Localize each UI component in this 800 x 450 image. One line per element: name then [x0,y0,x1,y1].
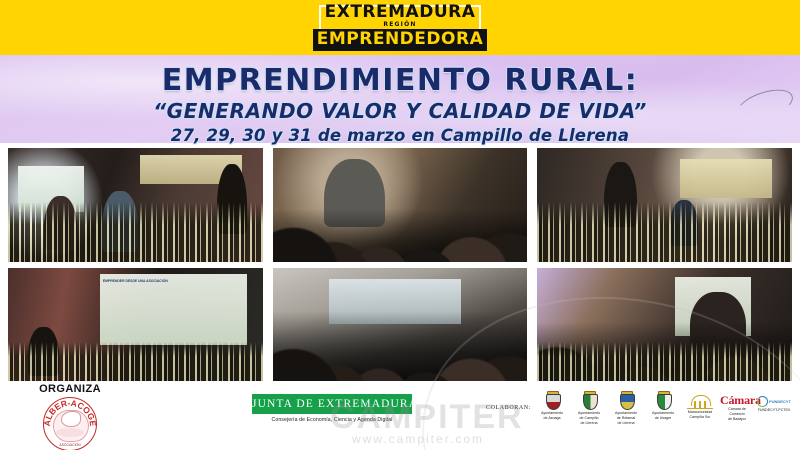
junta-extremadura-logo: JUNTA DE EXTREMADURA Consejería de Econo… [252,394,412,423]
collab-3-line2: de Usagre [646,416,680,421]
fundecyt-logo-icon: FUNDECYT [757,396,791,407]
photo-gallery: EMPRENDER DESDE UNA ASOCIACIÓN [8,148,792,381]
poster-root: EXTREMADURA REGIÓN EMPRENDEDORA EMPRENDI… [0,0,800,450]
logo-line-emprendedora: EMPRENDEDORA [313,29,487,50]
colaboran-label: COLABORAN: [486,405,531,411]
coat-of-arms-icon [619,391,634,410]
collaborator-logos: Ayuntamiento de Azuaga Ayuntamiento de C… [535,391,791,426]
extremadura-emprendedora-logo: EXTREMADURA REGIÓN EMPRENDEDORA [311,4,489,52]
collaborators-block: COLABORAN: Ayuntamiento de Azuaga [486,391,796,426]
page-title: EMPRENDIMIENTO RURAL: [0,55,800,98]
photo-4-projection-screen [100,274,248,344]
seal-subtext: ASOCIACIÓN [44,443,96,447]
photo-3-projection-screen [680,159,772,198]
coat-of-arms-icon [582,391,597,410]
junta-name: JUNTA DE EXTREMADURA [252,394,412,414]
photo-5-audience [273,311,528,381]
gallery-photo-2 [273,148,528,262]
collab-4-line2: Campiña Sur [683,415,717,420]
fundecyt-ring-icon [757,396,768,407]
collab-5-line2: de Badajoz [720,417,754,422]
collab-2-line3: de Llerena [609,421,643,426]
collaborator-usagre: Ayuntamiento de Usagre [646,391,680,421]
junta-department: Consejería de Economía, Ciencia y Agenda… [252,417,412,423]
logo-line-region: REGIÓN [383,22,416,28]
title-band: EMPRENDIMIENTO RURAL: “GENERANDO VALOR Y… [0,55,800,143]
photo-1-watermark-bars [8,202,263,261]
seal-dove-icon [61,411,81,427]
collaborator-camara-de-comercio: Cámara Cámara de Comercio de Badajoz [720,391,754,422]
camara-wordmark: Cámara [720,394,754,406]
collaborator-campillo-de-llerena: Ayuntamiento de Campillo de Llerena [572,391,606,426]
collaborator-retamal-de-llerena: Ayuntamiento de Retamal de Llerena [609,391,643,426]
gallery-photo-1 [8,148,263,262]
header-band: EXTREMADURA REGIÓN EMPRENDEDORA [0,0,800,55]
gallery-photo-5 [273,268,528,382]
collab-5-line1: Cámara de Comercio [720,407,754,417]
collab-1-line3: de Llerena [572,421,606,426]
photo-6-watermark-bars [537,342,792,381]
photo-4-slide-text: EMPRENDER DESDE UNA ASOCIACIÓN [8,277,263,285]
coat-of-arms-icon [545,391,560,410]
logo-line-extremadura: EXTREMADURA [325,4,476,21]
organiza-label: ORGANIZA [14,383,126,395]
organizer-block: ORGANIZA ALBER-ACOGE ASOCIACIÓN [14,383,126,450]
mancomunidad-arch-icon [687,392,713,409]
collab-6-line1: FUNDECYT-PCTEX [757,408,791,413]
footer: ORGANIZA ALBER-ACOGE ASOCIACIÓN JUNTA DE… [0,383,800,450]
coat-of-arms-icon [656,391,671,410]
photo-4-watermark-bars [8,342,263,381]
collaborator-azuaga: Ayuntamiento de Azuaga [535,391,569,421]
photo-3-watermark-bars [537,202,792,261]
page-subtitle: “GENERANDO VALOR Y CALIDAD DE VIDA” [0,99,800,123]
collaborator-mancomunidad-campina-sur: Mancomunidad Campiña Sur [683,391,717,420]
seal-base-shape [56,428,84,437]
photo-2-audience [273,209,528,261]
gallery-photo-4: EMPRENDER DESDE UNA ASOCIACIÓN [8,268,263,382]
collab-0-line2: de Azuaga [535,416,569,421]
event-dates: 27, 29, 30 y 31 de marzo en Campillo de … [0,126,800,145]
alber-acoge-logo: ALBER-ACOGE ASOCIACIÓN [43,397,97,450]
gallery-photo-6 [537,268,792,382]
fundecyt-wordmark: FUNDECYT [769,399,791,404]
gallery-photo-3 [537,148,792,262]
collaborator-fundecyt-pctex: FUNDECYT FUNDECYT-PCTEX [757,391,791,413]
